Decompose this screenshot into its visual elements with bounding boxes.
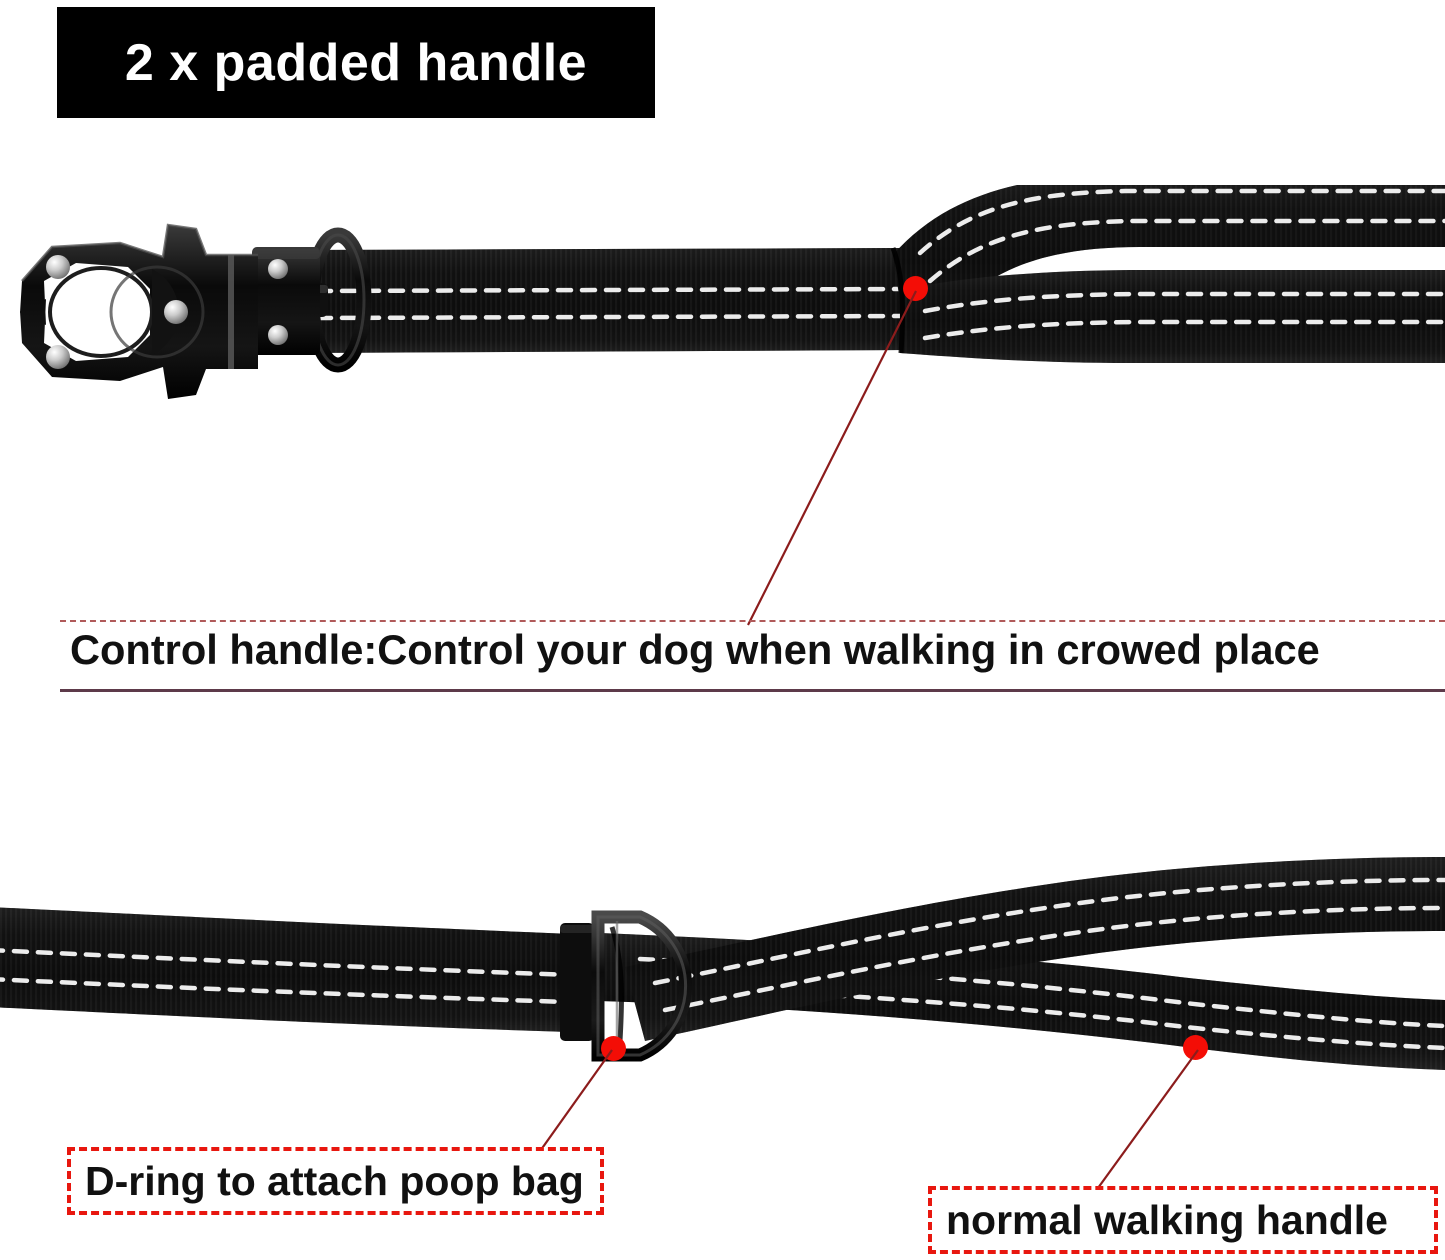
caption-control-handle-text: Control handle:Control your dog when wal… <box>70 626 1320 674</box>
caption-solid-rule-bottom <box>60 689 1445 692</box>
callout-box-d-ring: D-ring to attach poop bag <box>67 1147 604 1215</box>
marker-dot-d-ring <box>601 1036 626 1061</box>
caption-control-handle: Control handle:Control your dog when wal… <box>60 620 1445 692</box>
header-banner: 2 x padded handle <box>57 7 655 118</box>
callout-d-ring-label: D-ring to attach poop bag <box>71 1158 584 1205</box>
caption-dashed-rule-top <box>60 620 1445 622</box>
marker-dot-walking-handle <box>1183 1035 1208 1060</box>
product-photo-walking-handle <box>0 855 1445 1075</box>
header-banner-label: 2 x padded handle <box>125 33 587 93</box>
infographic-page: 2 x padded handle <box>0 0 1445 1260</box>
product-photo-control-handle <box>0 185 1445 415</box>
callout-box-walking-handle: normal walking handle <box>928 1186 1438 1254</box>
marker-dot-control-handle <box>903 276 928 301</box>
callout-walking-handle-label: normal walking handle <box>932 1197 1388 1244</box>
